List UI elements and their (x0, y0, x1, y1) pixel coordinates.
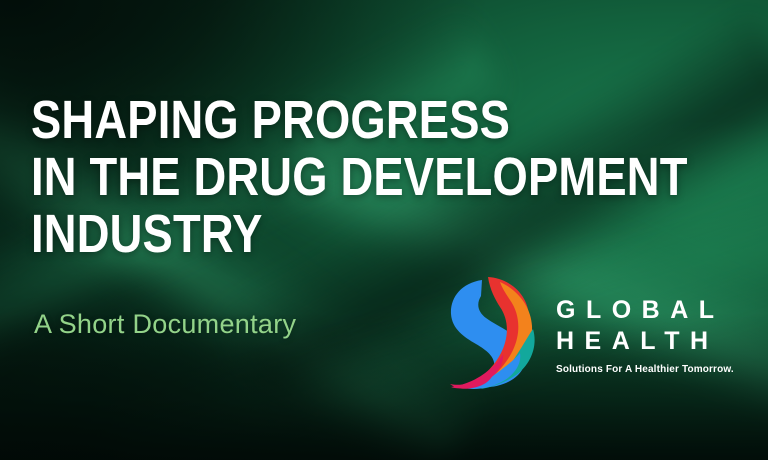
logo-tagline: Solutions For A Healthier Tomorrow. (556, 364, 734, 375)
page-title-line-3: INDUSTRY (31, 206, 688, 263)
promo-banner: SHAPING PROGRESS IN THE DRUG DEVELOPMENT… (0, 0, 768, 460)
global-health-logo: GLOBAL HEALTH Solutions For A Healthier … (448, 272, 748, 394)
page-subtitle: A Short Documentary (34, 309, 296, 340)
logo-wordmark-health: HEALTH (556, 326, 734, 357)
logo-text-block: GLOBAL HEALTH Solutions For A Healthier … (556, 291, 734, 375)
page-title-line-1: SHAPING PROGRESS (31, 92, 688, 149)
logo-wordmark-global: GLOBAL (556, 295, 734, 326)
page-title: SHAPING PROGRESS IN THE DRUG DEVELOPMENT… (31, 92, 688, 263)
banner-content: SHAPING PROGRESS IN THE DRUG DEVELOPMENT… (0, 0, 768, 460)
page-title-line-2: IN THE DRUG DEVELOPMENT (31, 149, 688, 206)
global-health-swoosh-mark (448, 274, 542, 392)
